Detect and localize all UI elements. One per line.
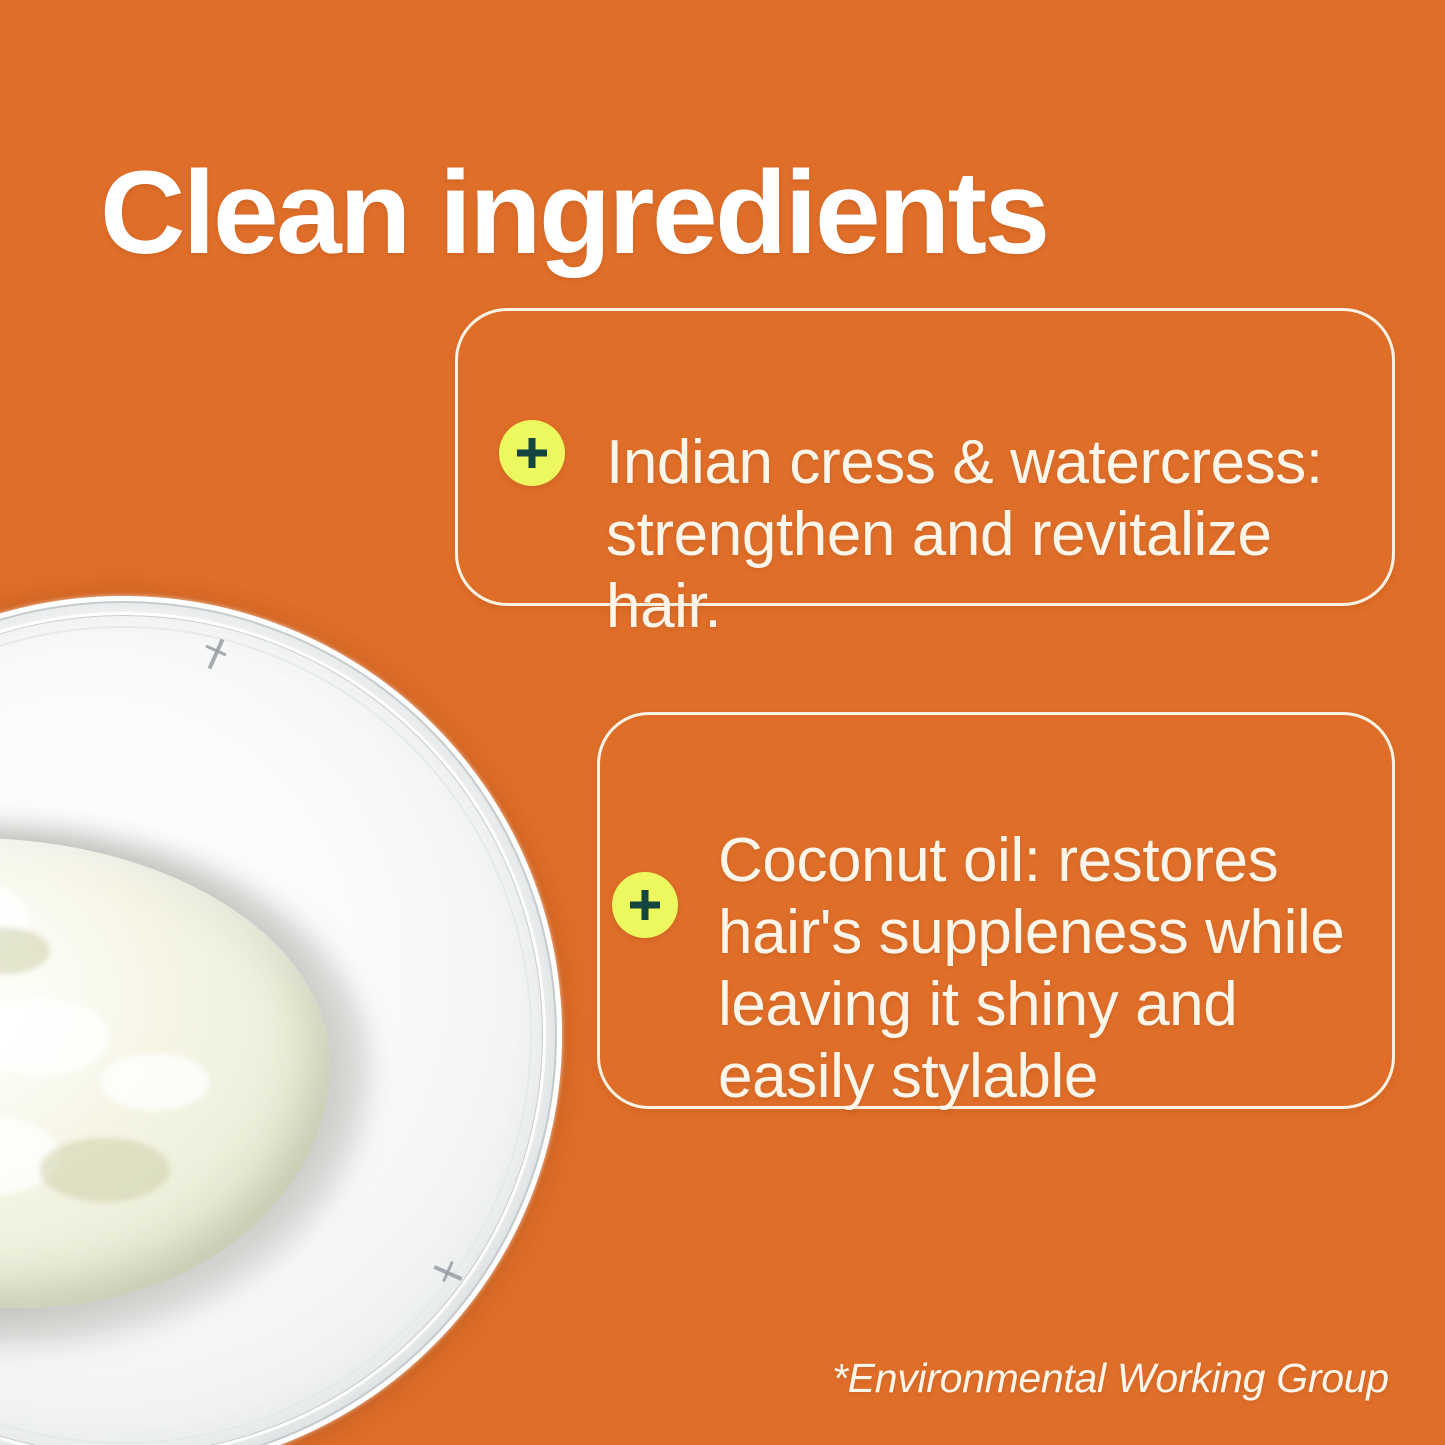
footnote-disclaimer: *Environmental Working Group <box>832 1355 1389 1402</box>
plus-icon <box>515 436 549 470</box>
glass-jar-body <box>0 596 562 1445</box>
page-title: Clean ingredients <box>100 151 1048 276</box>
plus-icon-badge-1 <box>499 420 565 486</box>
glass-jar-outer-rim <box>0 596 562 1445</box>
ingredient-card-coconut-oil: Coconut oil: restores hair's suppleness … <box>597 712 1395 1109</box>
glass-jar-seam-mark-top-cross <box>205 645 226 657</box>
glass-jar-seam-mark-bottom-cross <box>442 1261 454 1282</box>
ingredient-card-text: Indian cress & watercress: strengthen an… <box>606 427 1366 643</box>
glass-jar-inner-rim-secondary <box>0 626 532 1444</box>
coconut-oil-shadow <box>0 826 370 1346</box>
glass-jar-seam-mark-bottom <box>433 1265 462 1281</box>
plus-icon-badge-2 <box>612 872 678 938</box>
plus-icon <box>628 888 662 922</box>
glass-jar-inner-rim <box>0 612 546 1445</box>
jar-drop-shadow <box>0 588 562 1445</box>
glass-jar-seam-mark-top <box>208 639 225 670</box>
ingredient-card-text: Coconut oil: restores hair's suppleness … <box>718 825 1378 1113</box>
ingredient-card-indian-cress: Indian cress & watercress: strengthen an… <box>455 308 1395 606</box>
coconut-oil-scoop <box>0 838 330 1308</box>
promo-image-canvas: Clean ingredients Indian cress & watercr… <box>0 0 1445 1445</box>
